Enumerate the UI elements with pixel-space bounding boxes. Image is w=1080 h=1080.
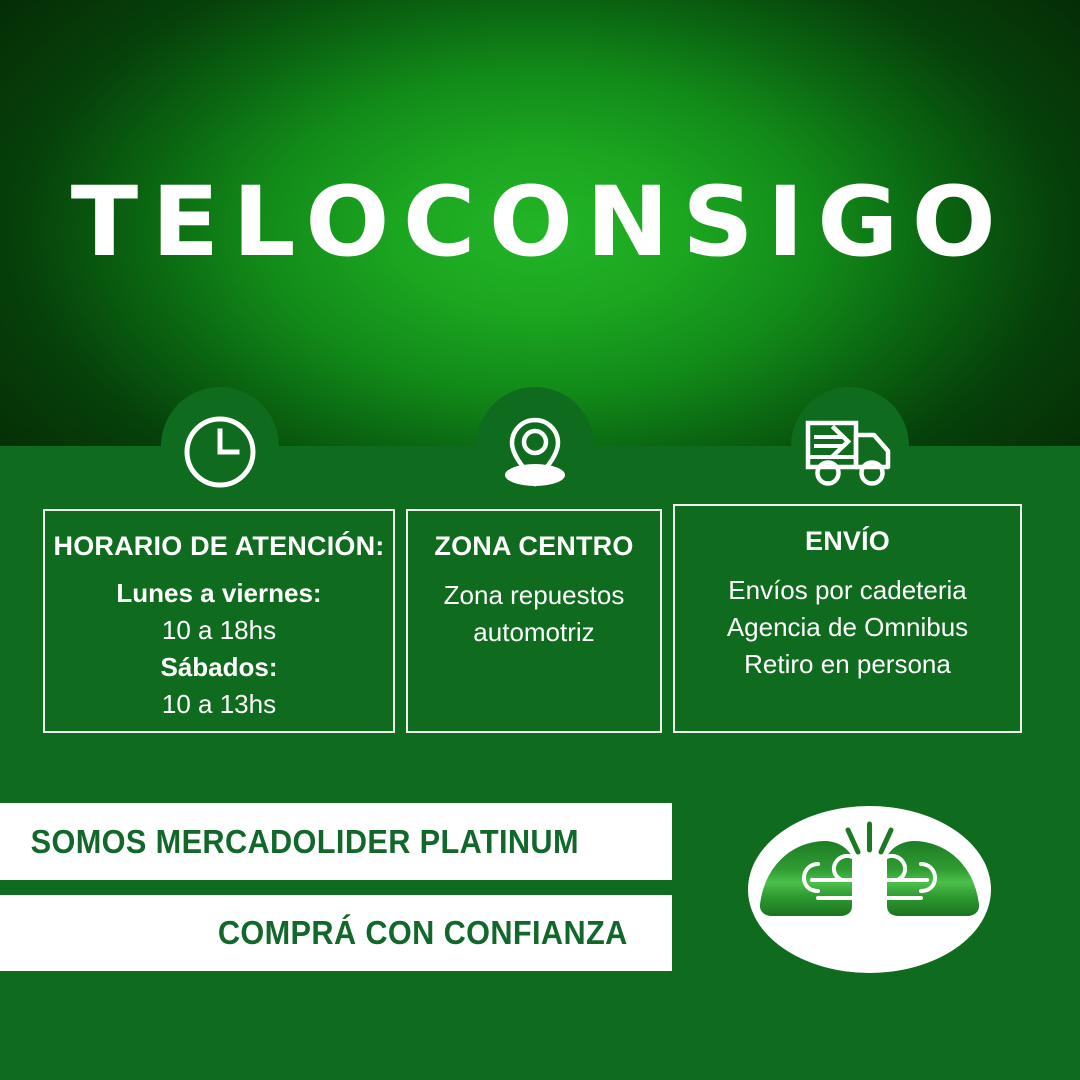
card-line: Zona repuestos	[408, 577, 660, 614]
banner-text: SOMOS MERCADOLIDER PLATINUM	[31, 823, 579, 861]
card-line: Agencia de Omnibus	[675, 609, 1020, 646]
info-card-horario: HORARIO DE ATENCIÓN: Lunes a viernes: 10…	[43, 509, 395, 733]
card-line: 10 a 13hs	[45, 686, 393, 723]
clock-icon	[161, 409, 279, 495]
card-line: 10 a 18hs	[45, 612, 393, 649]
card-line: Sábados:	[45, 649, 393, 686]
delivery-truck-icon	[791, 409, 909, 495]
brand-logo: TELOCONSIGO	[0, 176, 1080, 268]
card-line: Envíos por cadeteria	[675, 572, 1020, 609]
info-card-envio: ENVÍO Envíos por cadeteria Agencia de Om…	[673, 504, 1022, 733]
card-line: automotriz	[408, 614, 660, 651]
card-title: HORARIO DE ATENCIÓN:	[45, 529, 393, 563]
card-title: ZONA CENTRO	[408, 529, 660, 563]
banner-mercadolider: SOMOS MERCADOLIDER PLATINUM	[0, 803, 672, 880]
card-title: ENVÍO	[675, 524, 1020, 558]
card-line: Retiro en persona	[675, 646, 1020, 683]
card-line: Lunes a viernes:	[45, 575, 393, 612]
fist-bump-icon	[748, 806, 991, 973]
location-pin-icon	[476, 409, 594, 495]
banner-text: COMPRÁ CON CONFIANZA	[218, 914, 628, 952]
info-card-zona: ZONA CENTRO Zona repuestos automotriz	[406, 509, 662, 733]
promo-poster: TELOCONSIGO HORARIO DE ATENCIÓN:	[0, 0, 1080, 1080]
banner-confianza: COMPRÁ CON CONFIANZA	[0, 895, 672, 971]
